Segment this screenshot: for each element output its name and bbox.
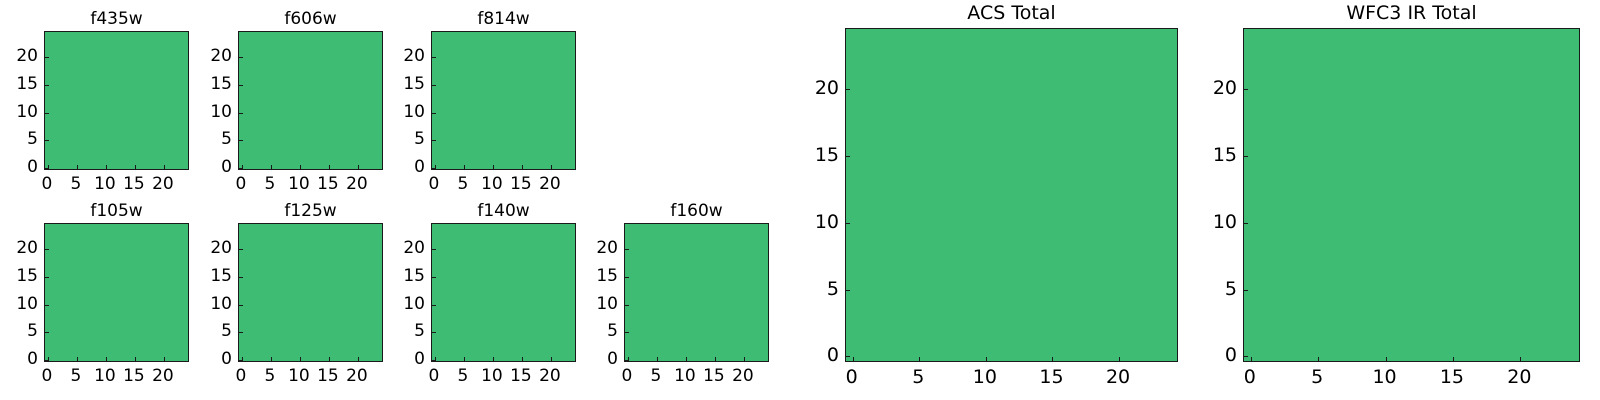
x-tick-label: 10 bbox=[288, 366, 310, 386]
x-tick-label: 5 bbox=[457, 174, 468, 194]
heatmap-cells bbox=[239, 32, 382, 169]
y-tick-label: 20 bbox=[1213, 77, 1237, 99]
panel-title-f125w: f125w bbox=[238, 201, 383, 221]
x-tick-label: 10 bbox=[94, 366, 116, 386]
heatmap-cells bbox=[239, 224, 382, 361]
x-tick-label: 10 bbox=[481, 366, 503, 386]
x-tick-label: 0 bbox=[41, 174, 52, 194]
x-tick-label: 20 bbox=[346, 174, 368, 194]
y-tick-label: 0 bbox=[414, 157, 425, 177]
x-tick-label: 15 bbox=[317, 366, 339, 386]
x-tick-mark bbox=[164, 357, 165, 361]
x-tick-label: 5 bbox=[70, 366, 81, 386]
y-tick-mark bbox=[625, 332, 629, 333]
figure-canvas: f435w 0510152005101520 f606w 05101520051… bbox=[0, 0, 1600, 400]
y-tick-mark bbox=[432, 113, 436, 114]
x-tick-mark bbox=[464, 165, 465, 169]
y-tick-mark bbox=[846, 290, 850, 291]
y-tick-mark bbox=[432, 305, 436, 306]
x-tick-label: 0 bbox=[41, 366, 52, 386]
y-tick-mark bbox=[846, 156, 850, 157]
y-tick-mark bbox=[432, 360, 436, 361]
y-tick-mark bbox=[239, 360, 243, 361]
y-tick-mark bbox=[432, 57, 436, 58]
y-tick-mark bbox=[625, 360, 629, 361]
panel-title-f160w: f160w bbox=[624, 201, 769, 221]
panel-wfc3-ir-total: WFC3 IR Total 0510152005101520 bbox=[1243, 28, 1580, 362]
y-tick-label: 10 bbox=[210, 294, 232, 314]
y-tick-mark bbox=[45, 168, 49, 169]
x-tick-label: 15 bbox=[510, 174, 532, 194]
y-tick-label: 5 bbox=[414, 129, 425, 149]
x-tick-label: 10 bbox=[481, 174, 503, 194]
y-tick-label: 5 bbox=[27, 321, 38, 341]
x-tick-label: 5 bbox=[457, 366, 468, 386]
y-tick-label: 15 bbox=[210, 266, 232, 286]
y-tick-label: 5 bbox=[414, 321, 425, 341]
x-tick-mark bbox=[522, 165, 523, 169]
y-tick-mark bbox=[239, 277, 243, 278]
x-tick-mark bbox=[986, 357, 987, 361]
y-tick-label: 10 bbox=[403, 102, 425, 122]
x-tick-label: 20 bbox=[1507, 366, 1531, 388]
x-tick-mark bbox=[1386, 357, 1387, 361]
y-tick-mark bbox=[45, 277, 49, 278]
y-tick-mark bbox=[1244, 223, 1248, 224]
x-tick-mark bbox=[300, 165, 301, 169]
y-tick-label: 0 bbox=[221, 157, 232, 177]
panel-f125w: f125w 0510152005101520 bbox=[238, 223, 383, 362]
x-tick-mark bbox=[551, 165, 552, 169]
x-tick-label: 15 bbox=[123, 174, 145, 194]
y-tick-label: 10 bbox=[596, 294, 618, 314]
x-tick-mark bbox=[657, 357, 658, 361]
x-tick-mark bbox=[551, 357, 552, 361]
x-tick-label: 20 bbox=[539, 174, 561, 194]
y-tick-mark bbox=[45, 140, 49, 141]
x-tick-label: 0 bbox=[428, 366, 439, 386]
panel-title-f140w: f140w bbox=[431, 201, 576, 221]
y-tick-label: 20 bbox=[16, 46, 38, 66]
x-tick-label: 15 bbox=[1440, 366, 1464, 388]
panel-title-f105w: f105w bbox=[44, 201, 189, 221]
x-tick-label: 10 bbox=[288, 174, 310, 194]
y-tick-label: 5 bbox=[607, 321, 618, 341]
x-tick-label: 5 bbox=[264, 366, 275, 386]
panel-f606w: f606w 0510152005101520 bbox=[238, 31, 383, 170]
y-tick-label: 10 bbox=[1213, 211, 1237, 233]
heatmap-cells bbox=[432, 32, 575, 169]
y-tick-label: 10 bbox=[16, 102, 38, 122]
x-tick-label: 15 bbox=[1039, 366, 1063, 388]
y-tick-label: 5 bbox=[1225, 278, 1237, 300]
heatmap-cells bbox=[432, 224, 575, 361]
y-tick-label: 15 bbox=[210, 74, 232, 94]
x-tick-mark bbox=[1520, 357, 1521, 361]
x-tick-label: 0 bbox=[846, 366, 858, 388]
y-tick-label: 15 bbox=[596, 266, 618, 286]
panel-f435w: f435w 0510152005101520 bbox=[44, 31, 189, 170]
y-tick-label: 20 bbox=[403, 238, 425, 258]
y-tick-mark bbox=[432, 277, 436, 278]
y-tick-mark bbox=[239, 332, 243, 333]
panel-f105w: f105w 0510152005101520 bbox=[44, 223, 189, 362]
x-tick-mark bbox=[522, 357, 523, 361]
x-tick-mark bbox=[1052, 357, 1053, 361]
x-tick-mark bbox=[271, 165, 272, 169]
x-tick-mark bbox=[464, 357, 465, 361]
x-tick-label: 15 bbox=[123, 366, 145, 386]
y-tick-mark bbox=[625, 277, 629, 278]
y-tick-mark bbox=[1244, 89, 1248, 90]
y-tick-label: 15 bbox=[815, 144, 839, 166]
y-tick-label: 20 bbox=[210, 238, 232, 258]
x-tick-label: 0 bbox=[235, 366, 246, 386]
panel-title-f814w: f814w bbox=[431, 9, 576, 29]
x-tick-label: 0 bbox=[235, 174, 246, 194]
y-tick-label: 20 bbox=[210, 46, 232, 66]
y-tick-label: 0 bbox=[27, 349, 38, 369]
y-tick-mark bbox=[846, 89, 850, 90]
x-tick-mark bbox=[919, 357, 920, 361]
y-tick-mark bbox=[239, 305, 243, 306]
y-tick-label: 20 bbox=[596, 238, 618, 258]
x-tick-mark bbox=[715, 357, 716, 361]
y-tick-mark bbox=[1244, 156, 1248, 157]
y-tick-label: 10 bbox=[815, 211, 839, 233]
x-tick-label: 0 bbox=[428, 174, 439, 194]
y-tick-label: 5 bbox=[27, 129, 38, 149]
x-tick-label: 5 bbox=[1311, 366, 1323, 388]
y-tick-label: 5 bbox=[221, 321, 232, 341]
y-tick-mark bbox=[239, 168, 243, 169]
x-tick-mark bbox=[358, 357, 359, 361]
panel-title-f435w: f435w bbox=[44, 9, 189, 29]
x-tick-label: 15 bbox=[317, 174, 339, 194]
y-tick-mark bbox=[432, 168, 436, 169]
x-tick-label: 5 bbox=[70, 174, 81, 194]
heatmap-f160w bbox=[624, 223, 769, 362]
heatmap-acs-total bbox=[845, 28, 1178, 362]
y-tick-mark bbox=[45, 332, 49, 333]
x-tick-label: 20 bbox=[152, 174, 174, 194]
y-tick-mark bbox=[45, 113, 49, 114]
y-tick-label: 10 bbox=[403, 294, 425, 314]
x-tick-label: 5 bbox=[650, 366, 661, 386]
y-tick-mark bbox=[625, 305, 629, 306]
x-tick-mark bbox=[164, 165, 165, 169]
x-tick-mark bbox=[853, 357, 854, 361]
y-tick-label: 15 bbox=[16, 266, 38, 286]
x-tick-mark bbox=[106, 165, 107, 169]
x-tick-label: 15 bbox=[510, 366, 532, 386]
heatmap-f105w bbox=[44, 223, 189, 362]
y-tick-label: 20 bbox=[403, 46, 425, 66]
x-tick-mark bbox=[686, 357, 687, 361]
y-tick-label: 0 bbox=[607, 349, 618, 369]
x-tick-mark bbox=[1251, 357, 1252, 361]
y-tick-label: 15 bbox=[16, 74, 38, 94]
y-tick-mark bbox=[45, 85, 49, 86]
panel-title-acs-total: ACS Total bbox=[845, 2, 1178, 24]
y-tick-label: 20 bbox=[16, 238, 38, 258]
y-tick-mark bbox=[432, 249, 436, 250]
x-tick-mark bbox=[135, 357, 136, 361]
panel-title-f606w: f606w bbox=[238, 9, 383, 29]
x-tick-label: 15 bbox=[703, 366, 725, 386]
y-tick-mark bbox=[432, 140, 436, 141]
x-tick-label: 10 bbox=[674, 366, 696, 386]
panel-f160w: f160w 0510152005101520 bbox=[624, 223, 769, 362]
x-tick-label: 10 bbox=[973, 366, 997, 388]
x-tick-label: 20 bbox=[346, 366, 368, 386]
y-tick-mark bbox=[45, 57, 49, 58]
y-tick-mark bbox=[846, 223, 850, 224]
x-tick-label: 5 bbox=[264, 174, 275, 194]
heatmap-cells bbox=[846, 29, 1177, 361]
x-tick-label: 20 bbox=[1106, 366, 1130, 388]
y-tick-label: 15 bbox=[403, 74, 425, 94]
x-tick-mark bbox=[106, 357, 107, 361]
y-tick-mark bbox=[1244, 290, 1248, 291]
x-tick-mark bbox=[493, 165, 494, 169]
x-tick-mark bbox=[358, 165, 359, 169]
x-tick-mark bbox=[329, 165, 330, 169]
heatmap-f435w bbox=[44, 31, 189, 170]
heatmap-f606w bbox=[238, 31, 383, 170]
y-tick-label: 15 bbox=[1213, 144, 1237, 166]
x-tick-mark bbox=[493, 357, 494, 361]
y-tick-label: 20 bbox=[815, 77, 839, 99]
x-tick-label: 0 bbox=[1244, 366, 1256, 388]
y-tick-mark bbox=[45, 249, 49, 250]
y-tick-mark bbox=[625, 249, 629, 250]
y-tick-label: 10 bbox=[16, 294, 38, 314]
y-tick-mark bbox=[432, 332, 436, 333]
y-tick-label: 0 bbox=[221, 349, 232, 369]
x-tick-mark bbox=[1119, 357, 1120, 361]
heatmap-wfc3-ir-total bbox=[1243, 28, 1580, 362]
heatmap-cells bbox=[625, 224, 768, 361]
heatmap-cells bbox=[45, 224, 188, 361]
x-tick-mark bbox=[744, 357, 745, 361]
x-tick-mark bbox=[300, 357, 301, 361]
x-tick-mark bbox=[1318, 357, 1319, 361]
x-tick-label: 20 bbox=[152, 366, 174, 386]
panel-f140w: f140w 0510152005101520 bbox=[431, 223, 576, 362]
y-tick-label: 0 bbox=[414, 349, 425, 369]
y-tick-label: 5 bbox=[827, 278, 839, 300]
y-tick-label: 5 bbox=[221, 129, 232, 149]
x-tick-mark bbox=[77, 357, 78, 361]
x-tick-mark bbox=[77, 165, 78, 169]
x-tick-label: 5 bbox=[912, 366, 924, 388]
x-tick-label: 0 bbox=[621, 366, 632, 386]
y-tick-label: 0 bbox=[827, 344, 839, 366]
x-tick-mark bbox=[1453, 357, 1454, 361]
heatmap-cells bbox=[45, 32, 188, 169]
y-tick-mark bbox=[1244, 356, 1248, 357]
y-tick-mark bbox=[846, 356, 850, 357]
y-tick-label: 0 bbox=[1225, 344, 1237, 366]
y-tick-mark bbox=[432, 85, 436, 86]
x-tick-mark bbox=[271, 357, 272, 361]
x-tick-label: 10 bbox=[1372, 366, 1396, 388]
y-tick-mark bbox=[239, 57, 243, 58]
x-tick-label: 20 bbox=[539, 366, 561, 386]
y-tick-label: 10 bbox=[210, 102, 232, 122]
x-tick-label: 20 bbox=[732, 366, 754, 386]
panel-f814w: f814w 0510152005101520 bbox=[431, 31, 576, 170]
panel-title-wfc3-ir-total: WFC3 IR Total bbox=[1243, 2, 1580, 24]
y-tick-label: 0 bbox=[27, 157, 38, 177]
y-tick-mark bbox=[239, 140, 243, 141]
heatmap-f814w bbox=[431, 31, 576, 170]
y-tick-mark bbox=[239, 113, 243, 114]
y-tick-mark bbox=[239, 85, 243, 86]
y-tick-mark bbox=[45, 305, 49, 306]
panel-acs-total: ACS Total 0510152005101520 bbox=[845, 28, 1178, 362]
y-tick-mark bbox=[239, 249, 243, 250]
x-tick-mark bbox=[329, 357, 330, 361]
x-tick-label: 10 bbox=[94, 174, 116, 194]
heatmap-f140w bbox=[431, 223, 576, 362]
heatmap-cells bbox=[1244, 29, 1579, 361]
heatmap-f125w bbox=[238, 223, 383, 362]
y-tick-mark bbox=[45, 360, 49, 361]
x-tick-mark bbox=[135, 165, 136, 169]
y-tick-label: 15 bbox=[403, 266, 425, 286]
